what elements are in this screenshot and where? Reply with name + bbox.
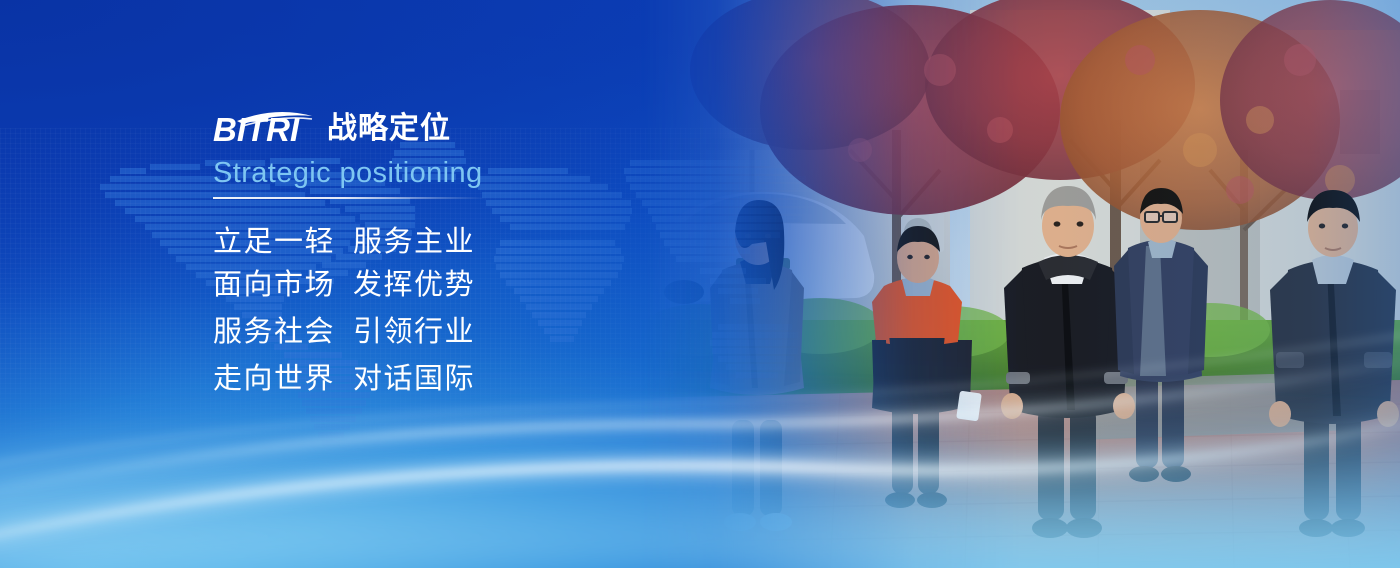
slogan-right: 发挥优势 [353, 264, 475, 307]
campus-walk-photo [640, 0, 1400, 568]
title-divider [213, 197, 485, 199]
slogan-row: 服务社会 引领行业 [213, 311, 643, 354]
slogan-right: 服务主业 [353, 221, 475, 264]
slogan-list: 立足一轻 服务主业 面向市场 发挥优势 服务社会 引领行业 走向世界 对话国际 [213, 221, 643, 401]
slogan-right: 对话国际 [353, 358, 475, 401]
slogan-row: 立足一轻 服务主业 [213, 221, 643, 264]
slogan-row: 面向市场 发挥优势 [213, 264, 643, 307]
slogan-right: 引领行业 [353, 311, 475, 354]
brand-lockup: BITRI 战略定位 [213, 108, 643, 150]
slogan-left: 服务社会 [213, 311, 353, 354]
swoosh-arc-icon [213, 110, 315, 150]
page-title-cn: 战略定位 [327, 109, 451, 150]
bitri-logo: BITRI [213, 110, 315, 150]
page-subtitle-en: Strategic positioning [213, 156, 643, 190]
strategic-positioning-banner: BITRI 战略定位 Strategic positioning 立足一轻 服务… [0, 0, 1400, 568]
slogan-row: 走向世界 对话国际 [213, 358, 643, 401]
slogan-left: 立足一轻 [213, 221, 353, 264]
banner-text-block: BITRI 战略定位 Strategic positioning 立足一轻 服务… [213, 108, 643, 401]
slogan-left: 走向世界 [213, 358, 353, 401]
slogan-left: 面向市场 [213, 264, 353, 307]
